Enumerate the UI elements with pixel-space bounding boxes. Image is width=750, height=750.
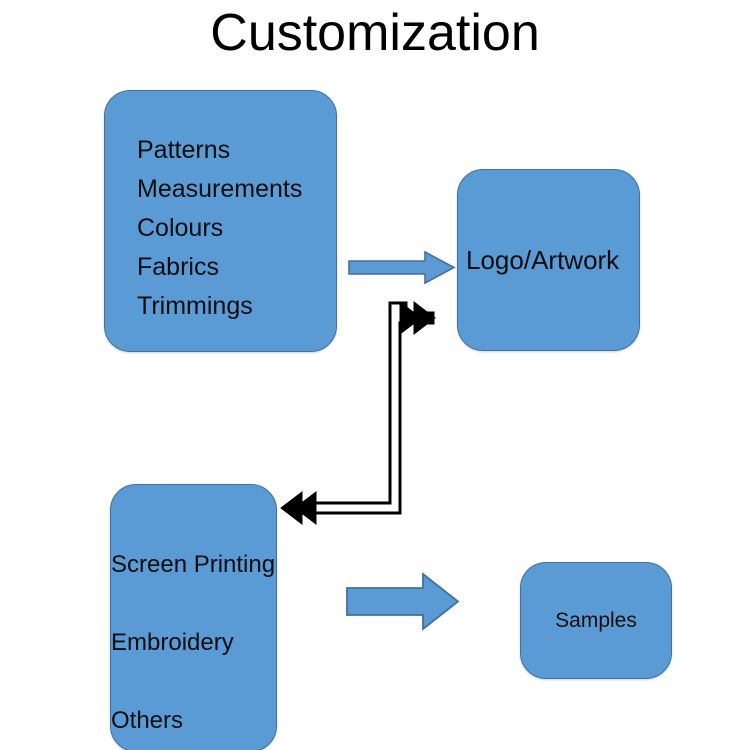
- block-arrow-right-icon: [347, 574, 458, 629]
- arrowhead-left-outer-icon: [281, 492, 302, 524]
- samples-box[interactable]: Samples: [520, 562, 672, 679]
- methods-to-samples-arrow[interactable]: [345, 570, 461, 634]
- requirements-item-colours: Colours: [137, 209, 397, 248]
- requirements-item-patterns: Patterns: [137, 131, 397, 170]
- requirements-item-measurements: Measurements: [137, 170, 397, 209]
- requirements-box[interactable]: Patterns Measurements Colours Fabrics Tr…: [104, 90, 337, 352]
- requirements-item-trimmings: Trimmings: [137, 287, 397, 326]
- samples-label: Samples: [521, 608, 671, 634]
- requirements-item-fabrics: Fabrics: [137, 248, 397, 287]
- page-title: Customization: [0, 2, 750, 64]
- diagram-canvas: Customization Patterns Measurements Colo…: [0, 0, 750, 750]
- arrowhead-right-inner-icon: [400, 302, 421, 334]
- arrowhead-right-outer-icon: [414, 302, 435, 334]
- logo-artwork-box[interactable]: Logo/Artwork: [457, 169, 640, 351]
- methods-item-embroidery: Embroidery: [111, 604, 351, 682]
- logo-artwork-label: Logo/Artwork: [466, 245, 619, 275]
- requirements-list: Patterns Measurements Colours Fabrics Tr…: [137, 131, 397, 326]
- arrowhead-left-inner-icon: [295, 492, 316, 524]
- methods-item-screen-printing: Screen Printing: [111, 526, 351, 604]
- printing-methods-box[interactable]: Screen Printing Embroidery Others: [110, 484, 277, 750]
- printing-methods-list: Screen Printing Embroidery Others: [111, 526, 351, 750]
- methods-item-others: Others: [111, 682, 351, 750]
